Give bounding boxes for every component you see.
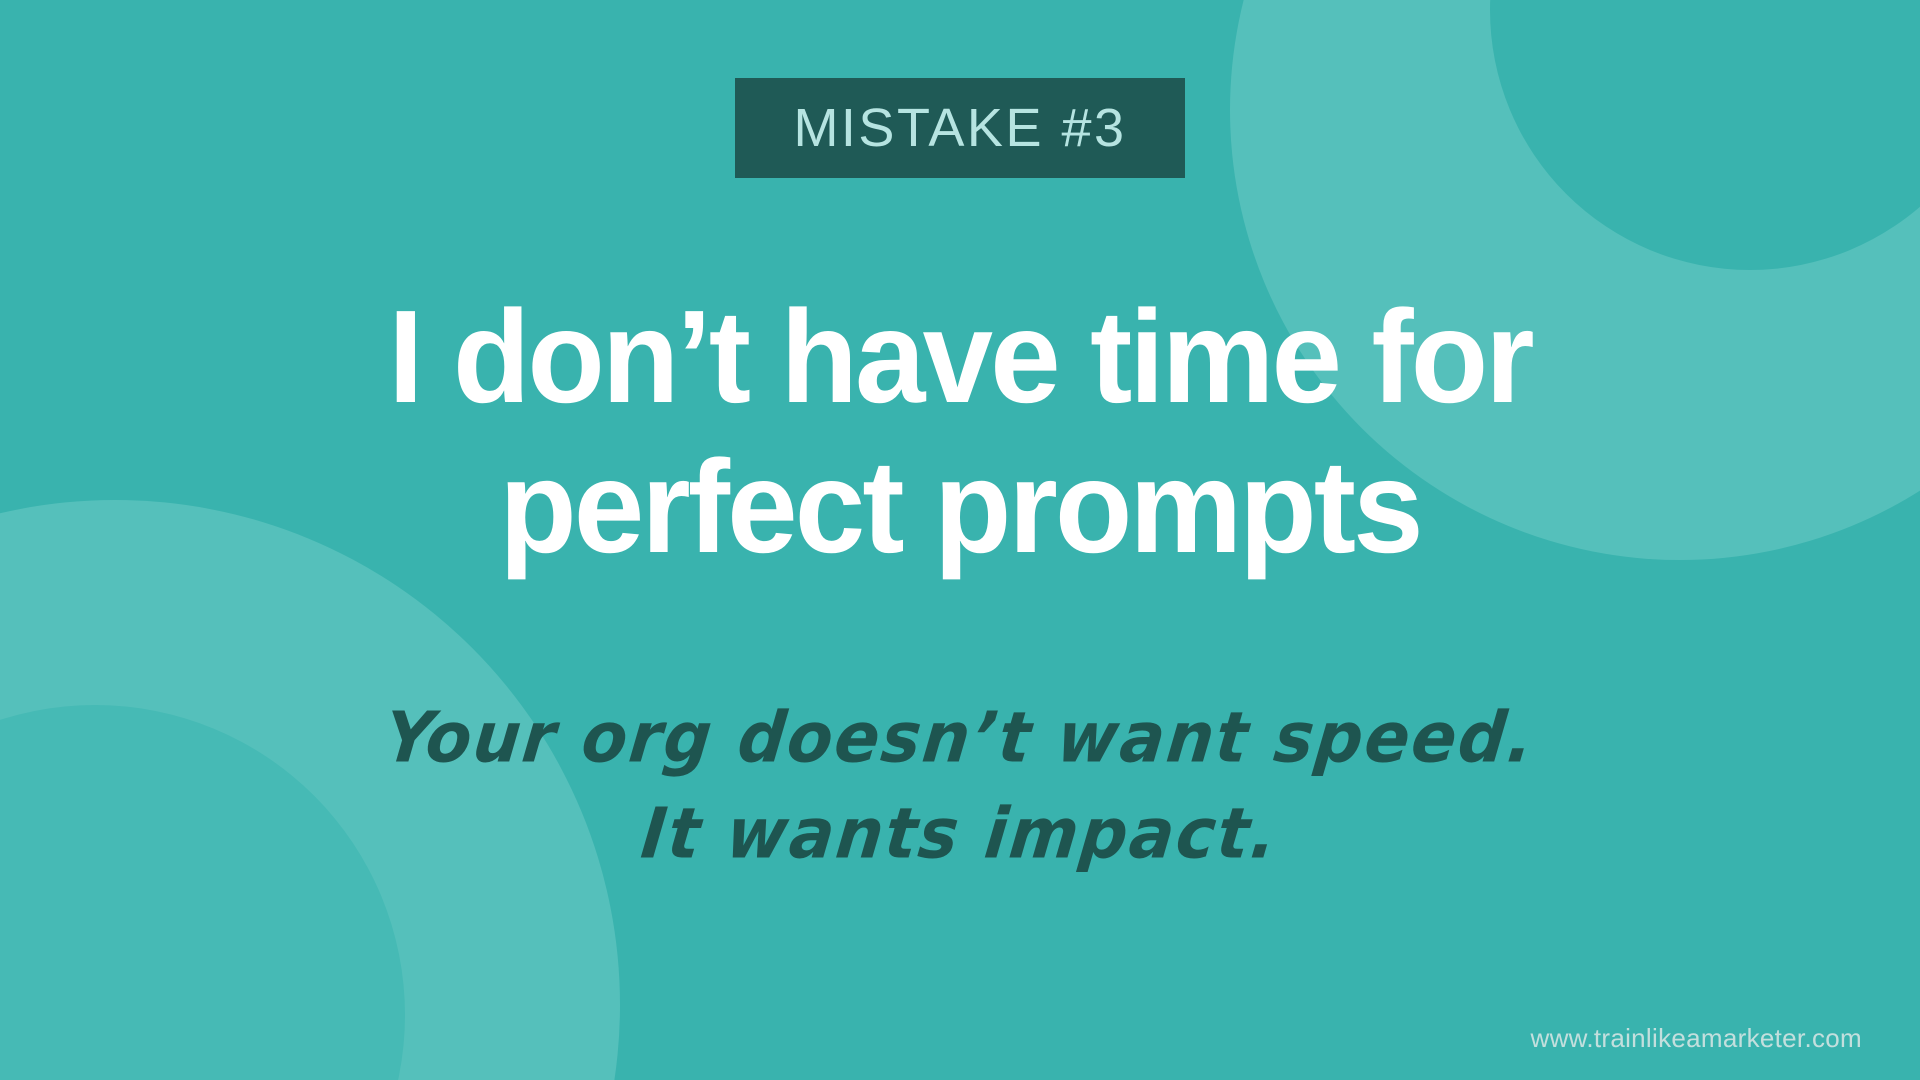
subtitle: Your org doesn’t want speed. It wants im… bbox=[0, 690, 1920, 882]
footer-website-url: www.trainlikeamarketer.com bbox=[1531, 1023, 1862, 1054]
mistake-badge: MISTAKE #3 bbox=[735, 78, 1185, 178]
subtitle-line-2: It wants impact. bbox=[215, 783, 1706, 885]
slide-canvas: MISTAKE #3 I don’t have time for perfect… bbox=[0, 0, 1920, 1080]
headline-line-2: perfect prompts bbox=[211, 432, 1709, 582]
subtitle-line-1: Your org doesn’t want speed. bbox=[215, 687, 1706, 789]
page-title: I don’t have time for perfect prompts bbox=[0, 282, 1920, 582]
slide-content: MISTAKE #3 I don’t have time for perfect… bbox=[0, 0, 1920, 1080]
headline-line-1: I don’t have time for bbox=[211, 282, 1709, 432]
mistake-badge-label: MISTAKE #3 bbox=[793, 101, 1126, 155]
